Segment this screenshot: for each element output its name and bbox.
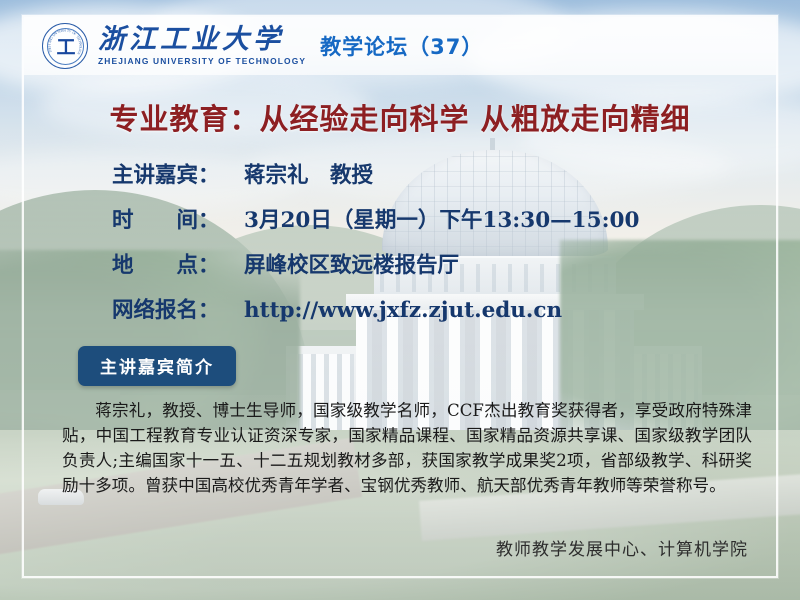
detail-label: 网络报名： bbox=[112, 293, 244, 324]
detail-row-speaker: 主讲嘉宾： 蒋宗礼 教授 bbox=[112, 158, 639, 189]
detail-row-registration: 网络报名： http://www.jxfz.zjut.edu.cn bbox=[112, 293, 639, 324]
detail-value: 3月20日（星期一）下午13:30—15:00 bbox=[244, 203, 639, 234]
university-name-en: ZHEJIANG UNIVERSITY OF TECHNOLOGY bbox=[98, 56, 306, 66]
registration-url-link[interactable]: http://www.jxfz.zjut.edu.cn bbox=[244, 298, 562, 323]
detail-label: 时 间： bbox=[112, 203, 244, 234]
detail-label: 地 点： bbox=[112, 248, 244, 279]
poster-title: 专业教育：从经验走向科学 从粗放走向精细 bbox=[0, 96, 800, 138]
organizer-footer: 教师教学发展中心、计算机学院 bbox=[496, 535, 748, 560]
university-wordmark: 浙江工业大学 ZHEJIANG UNIVERSITY OF TECHNOLOGY bbox=[98, 26, 306, 66]
seal-glyph: 工 bbox=[56, 33, 73, 60]
detail-row-time: 时 间： 3月20日（星期一）下午13:30—15:00 bbox=[112, 203, 639, 234]
speaker-bio-text: 蒋宗礼，教授、博士生导师，国家级教学名师，CCF杰出教育奖获得者，享受政府特殊津… bbox=[62, 398, 752, 498]
event-details-block: 主讲嘉宾： 蒋宗礼 教授 时 间： 3月20日（星期一）下午13:30—15:0… bbox=[112, 158, 639, 338]
event-poster: ZHEJIANG UNIVERSITY OF TECHNOLOGY 工 浙江工业… bbox=[0, 0, 800, 600]
detail-row-location: 地 点： 屏峰校区致远楼报告厅 bbox=[112, 248, 639, 279]
detail-label: 主讲嘉宾： bbox=[112, 158, 244, 189]
detail-value: 蒋宗礼 教授 bbox=[244, 158, 373, 189]
speaker-bio-badge: 主讲嘉宾简介 bbox=[78, 346, 236, 386]
poster-header-bar: ZHEJIANG UNIVERSITY OF TECHNOLOGY 工 浙江工业… bbox=[24, 17, 776, 75]
detail-value: 屏峰校区致远楼报告厅 bbox=[244, 248, 459, 279]
university-seal-icon: ZHEJIANG UNIVERSITY OF TECHNOLOGY 工 bbox=[42, 23, 88, 69]
university-name-cn: 浙江工业大学 bbox=[98, 26, 306, 53]
forum-series-label: 教学论坛（37） bbox=[320, 31, 483, 61]
